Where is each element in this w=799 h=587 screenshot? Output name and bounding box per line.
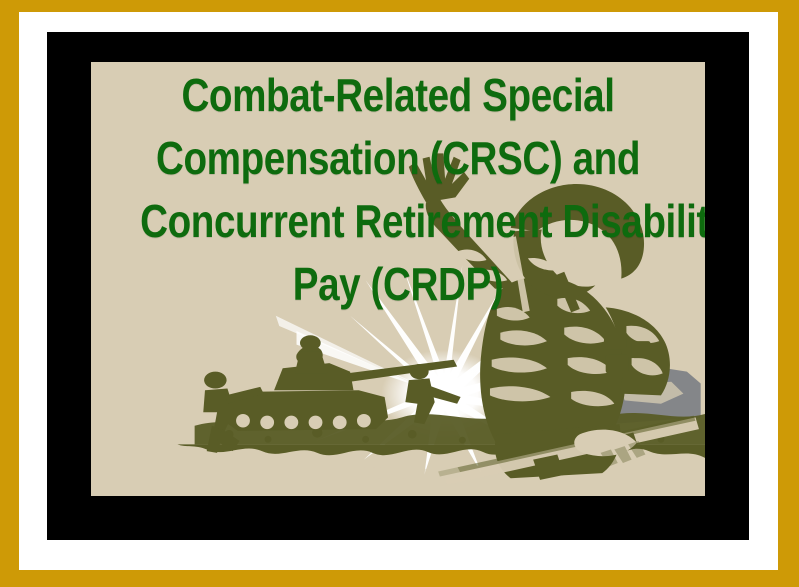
soldier-raised-arm [426,199,516,289]
poster-frame-gold: Combat-Related Special Compensation (CRS… [0,0,799,587]
soldier-open-hand [409,153,469,202]
poster-frame-black: Combat-Related Special Compensation (CRS… [47,32,749,540]
battle-scene-illustration [91,62,705,496]
poster-canvas: Combat-Related Special Compensation (CRS… [91,62,705,496]
poster-frame-white: Combat-Related Special Compensation (CRS… [19,12,778,570]
